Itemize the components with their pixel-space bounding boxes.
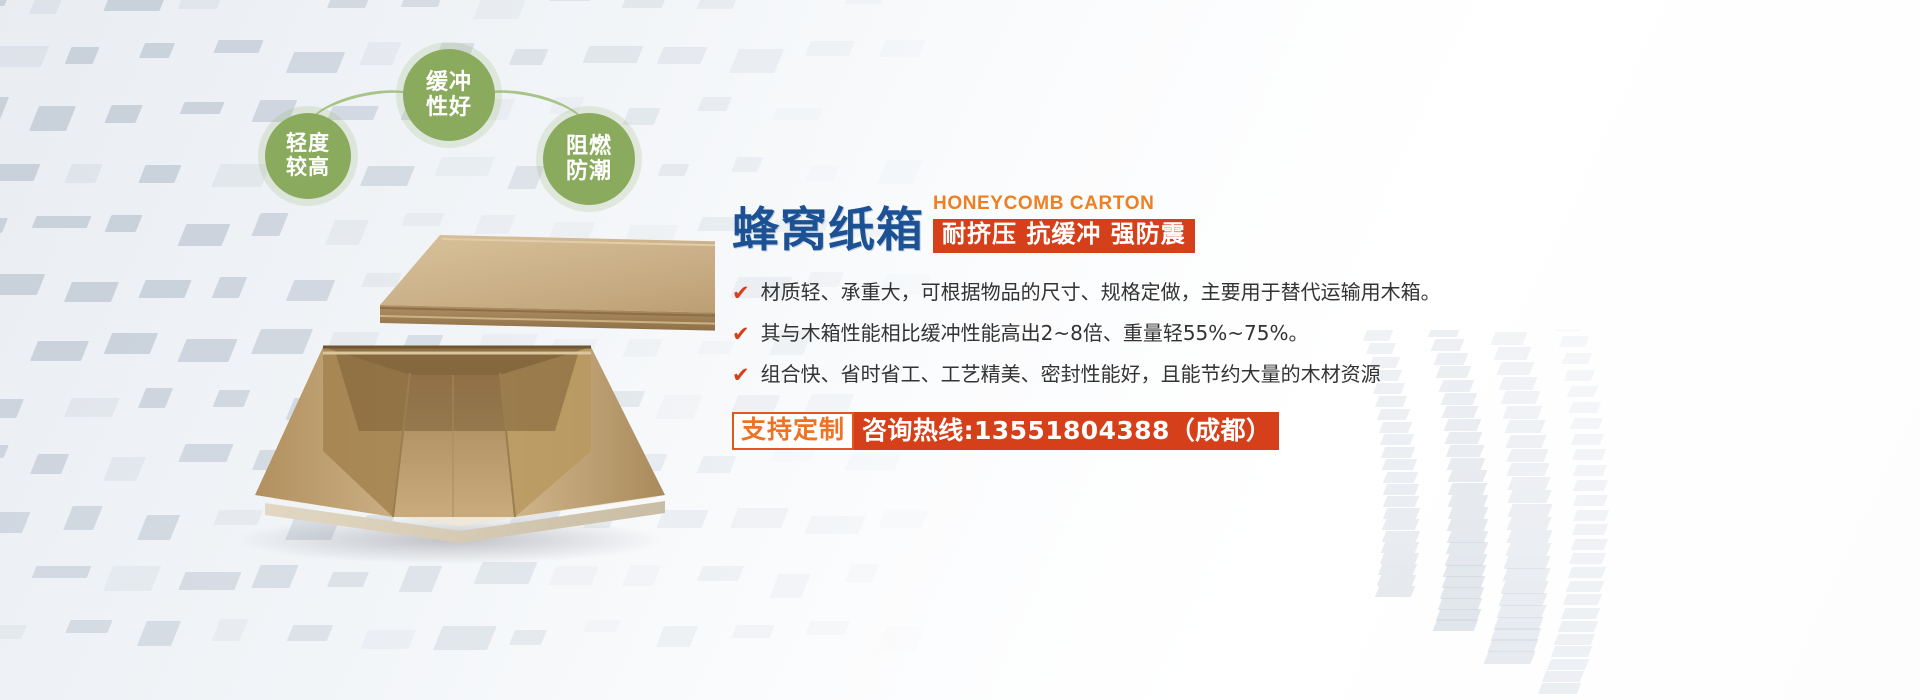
pattern-shape [29, 106, 76, 131]
pattern-shape [65, 620, 112, 633]
pattern-shape [31, 216, 91, 228]
swoosh-shape [1505, 543, 1551, 556]
product-image-honeycomb-carton [195, 195, 715, 565]
subtitle-english: HONEYCOMB CARTON [933, 192, 1195, 216]
swoosh-shape [1378, 564, 1417, 575]
swoosh-shape [1507, 477, 1550, 490]
contact-bar: 支持定制 咨询热线:13551804388（成都） [732, 412, 1279, 450]
swoosh-shape [1506, 530, 1552, 543]
badge-flame-moisture: 阻燃 防潮 [543, 113, 635, 205]
pattern-shape [0, 445, 9, 458]
pattern-shape [879, 40, 926, 57]
promo-banner: 轻度 较高 缓冲 性好 阻燃 防潮 [0, 0, 1920, 700]
swoosh-shape [1381, 542, 1419, 553]
pattern-shape [697, 97, 732, 111]
pattern-shape [401, 0, 444, 7]
badge-flame-moisture-line2: 防潮 [566, 159, 612, 184]
pattern-shape [63, 506, 103, 530]
swoosh-shape [1382, 531, 1420, 542]
pattern-shape [0, 0, 9, 6]
swoosh-shape [1571, 539, 1608, 550]
pattern-shape [29, 0, 66, 13]
pattern-shape [0, 399, 24, 418]
swoosh-shape [1554, 634, 1595, 645]
pattern-shape [137, 621, 181, 646]
pattern-shape [844, 0, 889, 5]
swoosh-shape [1566, 581, 1604, 592]
swoosh-shape [1573, 510, 1609, 521]
pattern-shape [64, 398, 119, 417]
pattern-shape [212, 619, 249, 641]
swoosh-shape [1483, 651, 1535, 664]
swoosh-shape [1448, 507, 1489, 519]
swoosh-shape [1572, 449, 1606, 460]
badge-cushioning: 缓冲 性好 [403, 49, 495, 141]
pattern-shape [327, 572, 369, 587]
swoosh-shape [1563, 594, 1602, 605]
pattern-shape [805, 41, 854, 56]
pattern-shape [433, 626, 496, 650]
pattern-shape [696, 0, 739, 9]
swoosh-shape [1382, 459, 1417, 470]
swoosh-shape [1506, 463, 1549, 476]
pattern-shape [729, 49, 784, 73]
product-info: 蜂窝纸箱 HONEYCOMB CARTON 耐挤压 抗缓冲 强防震 ✔ 材质轻、… [732, 192, 1872, 450]
swoosh-shape [1547, 659, 1589, 670]
pattern-shape [104, 333, 158, 354]
badge-light-weight-line2: 较高 [286, 156, 330, 180]
swoosh-shape [1383, 496, 1419, 507]
swoosh-shape [1383, 472, 1418, 483]
pattern-shape [877, 160, 923, 184]
swoosh-shape [1538, 683, 1581, 694]
swoosh-shape [1551, 646, 1592, 657]
pattern-shape [772, 108, 823, 120]
list-item: ✔ 组合快、省时省工、工艺精美、密封性能好，且能节约大量的木材资源 [732, 361, 1872, 387]
pattern-shape [622, 0, 671, 8]
swoosh-shape [1447, 519, 1489, 531]
swoosh-shape [1573, 465, 1607, 476]
pattern-shape [178, 0, 225, 9]
list-item-text: 组合快、省时省工、工艺精美、密封性能好，且能节约大量的木材资源 [761, 361, 1381, 387]
pattern-shape [138, 388, 173, 408]
pattern-shape [0, 164, 40, 181]
swoosh-shape [1377, 575, 1416, 586]
pattern-shape [0, 46, 49, 67]
swoosh-shape [1506, 517, 1551, 530]
check-icon: ✔ [732, 362, 750, 388]
swoosh-shape [1569, 553, 1606, 564]
check-icon: ✔ [732, 321, 750, 347]
badge-light-weight: 轻度 较高 [265, 113, 351, 199]
swoosh-shape [1382, 519, 1419, 530]
pattern-shape [64, 47, 99, 64]
swoosh-shape [1573, 495, 1608, 506]
pattern-shape [137, 515, 180, 540]
pattern-shape [64, 164, 102, 183]
hotline-city: （成都） [1170, 417, 1272, 445]
check-icon: ✔ [732, 280, 750, 306]
pattern-shape [103, 566, 162, 591]
pattern-shape [64, 282, 119, 302]
title-right-block: HONEYCOMB CARTON 耐挤压 抗缓冲 强防震 [933, 192, 1195, 254]
custom-order-badge: 支持定制 [732, 412, 854, 450]
pattern-shape [327, 0, 371, 7]
swoosh-shape [1506, 449, 1548, 462]
pattern-shape [0, 512, 30, 533]
pattern-shape [287, 625, 334, 641]
pattern-shape [30, 341, 89, 361]
pattern-shape [0, 218, 8, 233]
pattern-shape [251, 565, 298, 588]
page-title: 蜂窝纸箱 [732, 207, 924, 254]
pattern-shape [399, 566, 443, 592]
feature-badges: 轻度 较高 缓冲 性好 阻燃 防潮 [255, 45, 695, 210]
pattern-shape [139, 43, 175, 58]
pattern-shape [105, 215, 143, 232]
swoosh-shape [1572, 524, 1608, 535]
carton-illustration [195, 195, 715, 565]
swoosh-shape [1542, 671, 1584, 682]
pattern-shape [0, 97, 9, 122]
pattern-shape [0, 625, 27, 639]
pattern-shape [32, 566, 92, 578]
badge-cushioning-line2: 性好 [426, 95, 472, 120]
swoosh-shape [1433, 619, 1479, 631]
pattern-shape [138, 280, 192, 298]
pattern-shape [805, 166, 841, 181]
swoosh-shape [1561, 608, 1600, 619]
badge-flame-moisture-line1: 阻燃 [566, 134, 612, 159]
hotline-number: 13551804388 [974, 417, 1170, 445]
hotline-badge[interactable]: 咨询热线:13551804388（成都） [854, 412, 1279, 450]
swoosh-shape [1502, 568, 1550, 581]
list-item: ✔ 材质轻、承重大，可根据物品的尺寸、规格定做，主要用于替代运输用木箱。 [732, 279, 1872, 305]
pattern-shape [509, 630, 547, 645]
pattern-shape [179, 102, 224, 114]
pattern-shape [178, 572, 241, 590]
pattern-shape [30, 454, 69, 474]
swoosh-shape [1448, 495, 1489, 507]
pattern-shape [360, 630, 416, 649]
title-row: 蜂窝纸箱 HONEYCOMB CARTON 耐挤压 抗缓冲 强防震 [732, 192, 1872, 254]
swoosh-shape [1448, 483, 1488, 495]
swoosh-shape [1446, 542, 1489, 554]
swoosh-shape [1375, 586, 1415, 597]
list-item-text: 其与木箱性能相比缓冲性能高出2~8倍、重量轻55%~75%。 [761, 320, 1309, 346]
tagline-badge: 耐挤压 抗缓冲 强防震 [933, 219, 1195, 253]
badge-cushioning-line1: 缓冲 [426, 70, 472, 95]
pattern-shape [473, 0, 528, 18]
pattern-shape [138, 165, 181, 183]
swoosh-shape [1448, 470, 1488, 482]
swoosh-shape [1380, 553, 1419, 564]
feature-list: ✔ 材质轻、承重大，可根据物品的尺寸、规格定做，主要用于替代运输用木箱。 ✔ 其… [732, 279, 1872, 388]
swoosh-shape [1507, 490, 1551, 503]
swoosh-shape [1568, 567, 1606, 578]
swoosh-shape [1383, 508, 1420, 519]
pattern-shape [103, 0, 168, 11]
pattern-shape [731, 157, 764, 172]
swoosh-shape [1558, 621, 1598, 632]
swoosh-shape [1573, 480, 1608, 491]
pattern-shape [0, 274, 45, 295]
hotline-label: 咨询热线: [862, 417, 974, 445]
swoosh-shape [1383, 484, 1419, 495]
swoosh-shape [1507, 504, 1552, 517]
list-item-text: 材质轻、承重大，可根据物品的尺寸、规格定做，主要用于替代运输用木箱。 [761, 279, 1441, 305]
pattern-shape [104, 105, 142, 123]
pattern-shape [103, 457, 146, 481]
list-item: ✔ 其与木箱性能相比缓冲性能高出2~8倍、重量轻55%~75%。 [732, 320, 1872, 346]
badge-light-weight-line1: 轻度 [286, 132, 330, 156]
swoosh-shape [1447, 458, 1486, 470]
